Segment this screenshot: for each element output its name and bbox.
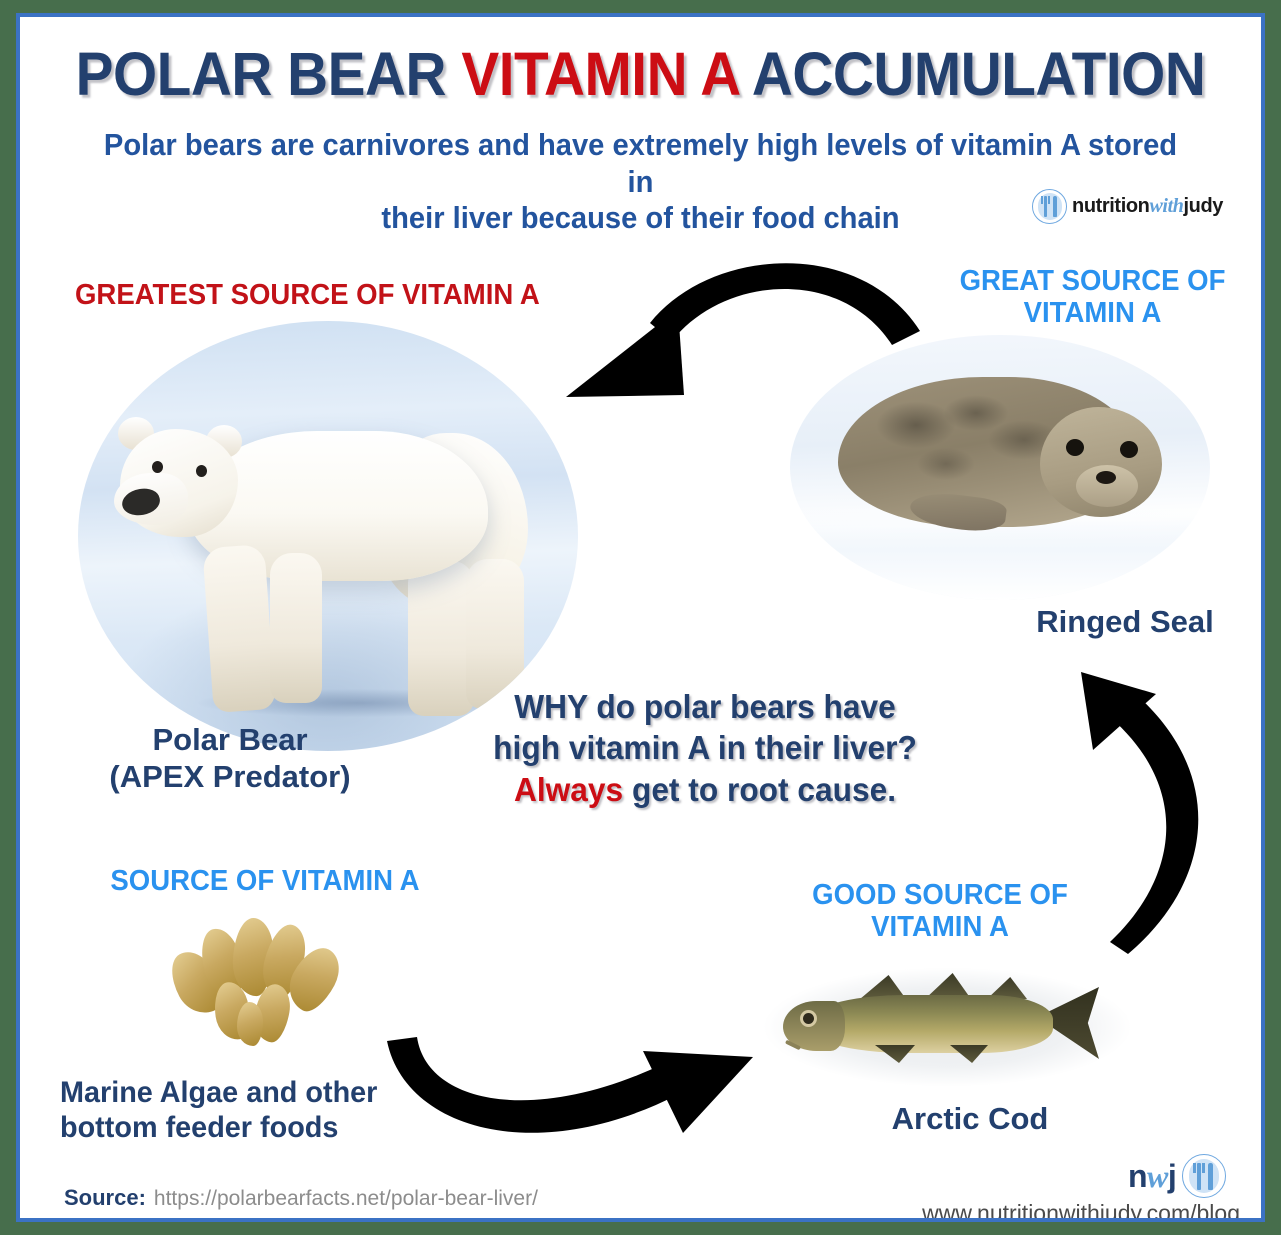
caption-polar-bear-line-2: (APEX Predator): [30, 759, 430, 796]
caption-arctic-cod: Arctic Cod: [845, 1101, 1095, 1138]
plate-fork-knife-icon: [1032, 189, 1067, 224]
nwj-letter-n: n: [1128, 1158, 1147, 1194]
brand-logo-wordmark: nutritionwithjudy: [1072, 195, 1223, 218]
logo-word-judy: judy: [1183, 195, 1223, 217]
source-url[interactable]: https://polarbearfacts.net/polar-bear-li…: [154, 1187, 538, 1210]
brand-logo-bottom[interactable]: nwj: [1128, 1154, 1226, 1198]
center-question-line-2: high vitamin A in their liver?: [484, 727, 926, 768]
marine-algae-photo: [155, 910, 365, 1055]
caption-marine-algae-line-1: Marine Algae and other: [60, 1075, 406, 1110]
subtitle-line-1: Polar bears are carnivores and have extr…: [95, 127, 1186, 200]
label-great-source-of-vitamin-a: GREAT SOURCE OF VITAMIN A: [929, 265, 1257, 330]
infographic-canvas: POLAR BEAR VITAMIN A ACCUMULATION Polar …: [20, 17, 1261, 1218]
center-question-line-3-rest: get to root cause.: [623, 771, 896, 808]
label-source-of-vitamin-a: SOURCE OF VITAMIN A: [89, 865, 441, 897]
label-good-line-1: GOOD SOURCE OF: [798, 879, 1083, 911]
plate-fork-knife-icon: [1182, 1154, 1226, 1198]
caption-marine-algae-line-2: bottom feeder foods: [60, 1110, 406, 1145]
caption-polar-bear-line-1: Polar Bear: [30, 722, 430, 759]
brand-logo-top[interactable]: nutritionwithjudy: [1032, 189, 1223, 224]
nwj-letter-w: w: [1147, 1158, 1168, 1194]
caption-polar-bear: Polar Bear (APEX Predator): [30, 722, 430, 795]
center-question-text: WHY do polar bears have high vitamin A i…: [484, 686, 926, 810]
label-greatest-source-of-vitamin-a: GREATEST SOURCE OF VITAMIN A: [75, 279, 560, 311]
subtitle-line-2: their liver because of their food chain: [95, 200, 1186, 237]
arrow-seal-to-bear-icon: [560, 245, 960, 435]
center-question-always: Always: [514, 771, 623, 808]
title-part-1: POLAR BEAR: [76, 40, 462, 108]
arrow-cod-to-seal-icon: [1050, 642, 1250, 982]
label-good-line-2: VITAMIN A: [798, 911, 1083, 943]
title-highlight: VITAMIN A: [461, 40, 738, 108]
caption-marine-algae: Marine Algae and other bottom feeder foo…: [60, 1075, 406, 1146]
logo-word-with: with: [1149, 195, 1183, 217]
arrow-algae-to-cod-icon: [365, 1029, 765, 1164]
infographic-root: POLAR BEAR VITAMIN A ACCUMULATION Polar …: [0, 0, 1281, 1235]
label-great-line-2: VITAMIN A: [929, 297, 1257, 329]
caption-ringed-seal: Ringed Seal: [975, 604, 1261, 641]
label-great-line-1: GREAT SOURCE OF: [929, 265, 1257, 297]
nwj-wordmark: nwj: [1128, 1160, 1176, 1192]
page-title: POLAR BEAR VITAMIN A ACCUMULATION: [63, 44, 1217, 105]
source-attribution: Source:https://polarbearfacts.net/polar-…: [64, 1185, 538, 1211]
logo-word-nutrition: nutrition: [1072, 195, 1149, 217]
center-question-line-3: Always get to root cause.: [484, 769, 926, 810]
footer-website-url[interactable]: www.nutritionwithjudy.com/blog: [880, 1200, 1240, 1218]
source-label: Source:: [64, 1185, 146, 1210]
page-subtitle: Polar bears are carnivores and have extr…: [95, 127, 1186, 237]
label-good-source-of-vitamin-a: GOOD SOURCE OF VITAMIN A: [798, 879, 1083, 944]
title-part-2: ACCUMULATION: [739, 40, 1206, 108]
center-question-line-1: WHY do polar bears have: [484, 686, 926, 727]
nwj-letter-j: j: [1168, 1158, 1176, 1194]
